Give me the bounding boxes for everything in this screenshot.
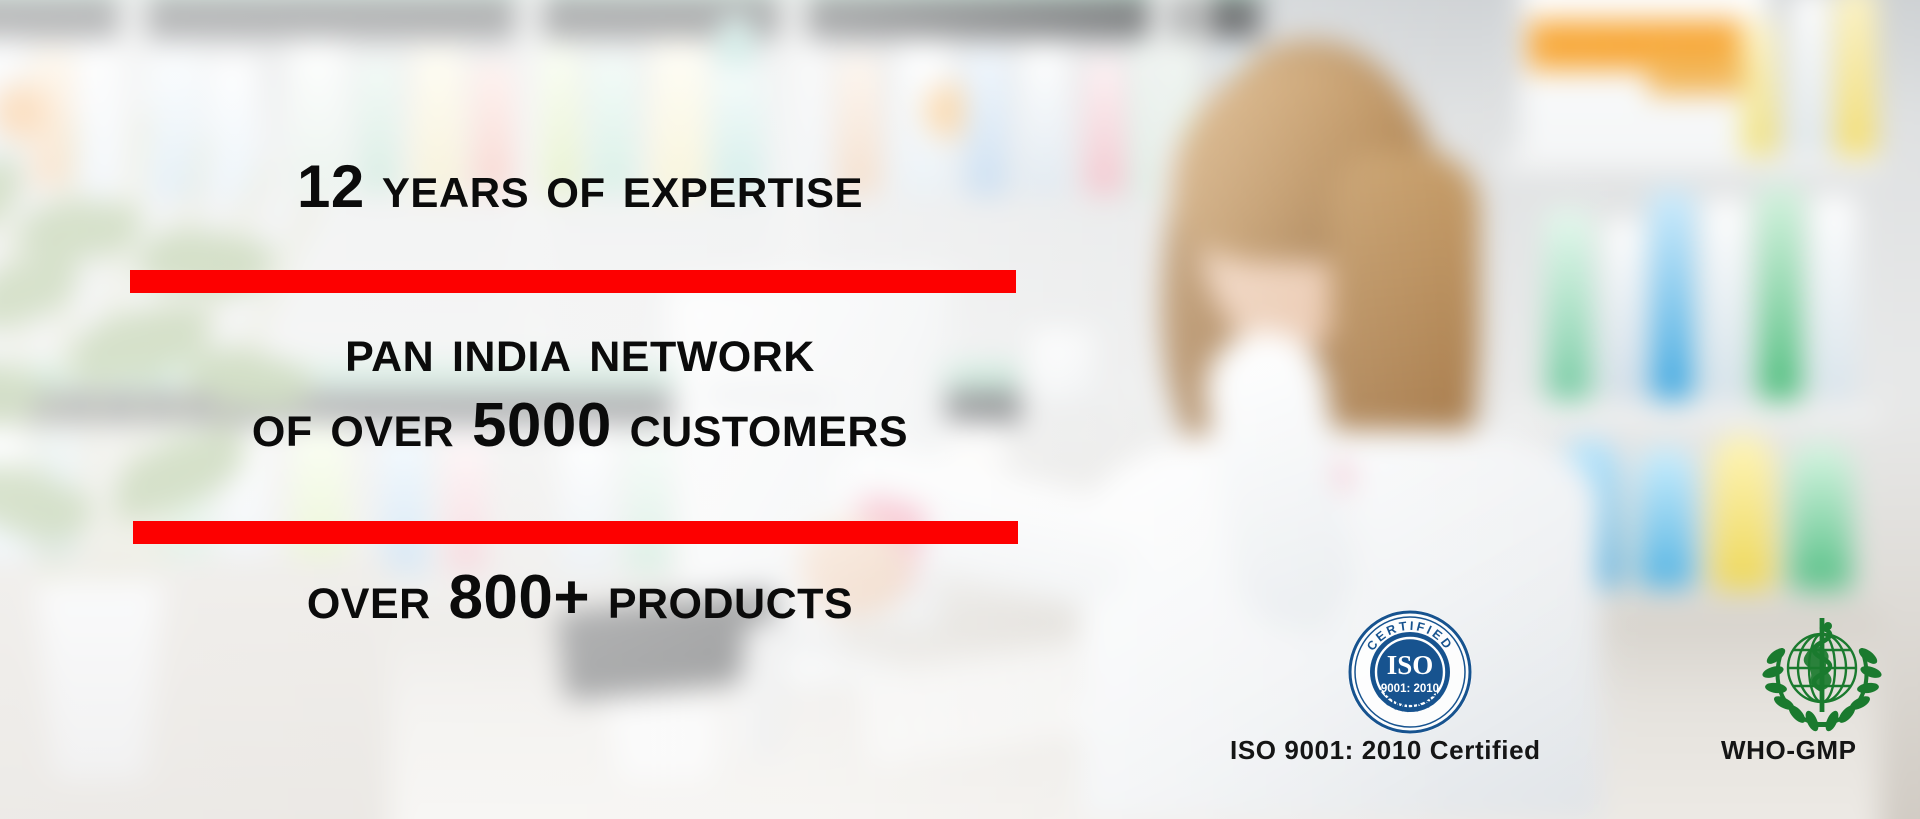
banner-content: 12 Years Of Expertise Pan India Network … bbox=[0, 0, 1920, 819]
headline-row-4: Over 800+ Products bbox=[0, 565, 1160, 631]
headline-customers: Of Over 5000 Customers bbox=[0, 393, 1160, 459]
headline-row-1: 12 Years Of Expertise bbox=[0, 155, 1160, 219]
headline-row-2: Pan India Network bbox=[0, 318, 1160, 384]
who-emblem-icon bbox=[1760, 610, 1884, 734]
svg-text:ISO: ISO bbox=[1387, 650, 1434, 680]
promotional-hero-banner: 12 Years Of Expertise Pan India Network … bbox=[0, 0, 1920, 819]
rod bbox=[1820, 618, 1825, 712]
accent-rule-top bbox=[130, 270, 1016, 293]
svg-text:9001: 2010: 9001: 2010 bbox=[1381, 683, 1439, 695]
accent-rule-bottom bbox=[133, 521, 1018, 544]
serpent-head bbox=[1824, 622, 1832, 630]
headline-network: Pan India Network bbox=[0, 318, 1160, 384]
headline-products: Over 800+ Products bbox=[0, 565, 1160, 631]
who-gmp-label: WHO-GMP bbox=[1721, 735, 1857, 766]
headline-expertise: 12 Years Of Expertise bbox=[0, 155, 1160, 219]
iso-certification-label: ISO 9001: 2010 Certified bbox=[1230, 735, 1541, 766]
iso-certified-seal-icon: CERTIFIED COMPANY ISO 9001: 2010 bbox=[1346, 608, 1474, 736]
headline-row-3: Of Over 5000 Customers bbox=[0, 393, 1160, 459]
